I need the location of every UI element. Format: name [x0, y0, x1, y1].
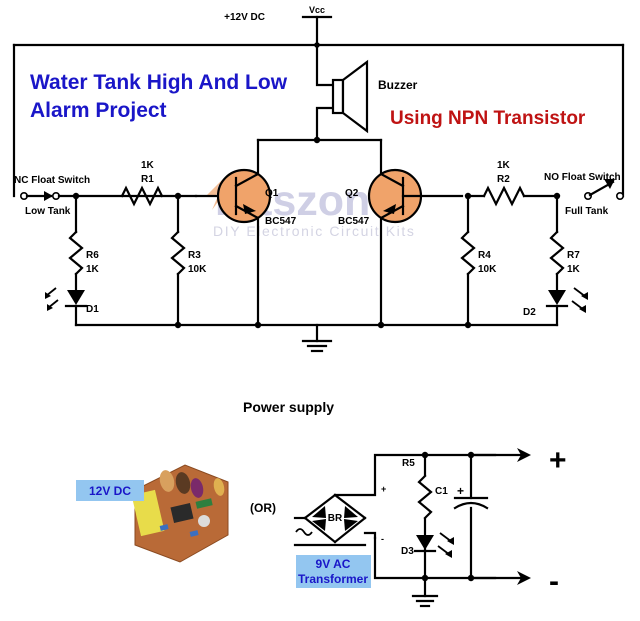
page-subtitle: Using NPN Transistor: [390, 108, 586, 129]
r2-zigzag-symbol: [484, 188, 524, 204]
vcc-supply-group: +12V DC Vcc: [224, 5, 331, 48]
junction-q1-emitter: [255, 322, 261, 328]
d2-triangle-symbol: [548, 290, 566, 305]
buzzer-label: Buzzer: [378, 78, 418, 92]
d2-emission-arrows-icon: [572, 288, 588, 313]
power-supply-heading: Power supply: [243, 399, 334, 415]
nc-switch-arrow-icon: [44, 191, 53, 201]
q2-ref-label: Q2: [345, 188, 359, 199]
junction-q2-emitter: [378, 322, 384, 328]
r1-value-label: 1K: [141, 160, 155, 171]
ps-output-terminals: + -: [471, 444, 567, 598]
page-title-line1: Water Tank High And Low: [30, 71, 288, 94]
nc-float-switch-label: NC Float Switch: [14, 175, 90, 186]
r2-value-label: 1K: [497, 160, 511, 171]
buzzer-top-wire: [317, 45, 333, 85]
nc-float-switch-group[interactable]: NC Float Switch Low Tank: [14, 175, 196, 217]
ps-positive-terminal-label: +: [549, 444, 567, 477]
transformer-badge-line1: 9V AC: [316, 557, 351, 571]
q1-ref-label: Q1: [265, 188, 279, 199]
resistor-r3-group: R3 10K: [172, 193, 207, 325]
collector-net: [258, 137, 381, 174]
capacitor-c1-group: C1 +: [425, 452, 495, 581]
full-tank-label: Full Tank: [565, 206, 609, 217]
r3-ref-label: R3: [188, 250, 201, 261]
buzzer-body: [333, 80, 343, 113]
r7-ref-label: R7: [567, 250, 580, 261]
r3-zigzag-symbol: [172, 232, 184, 274]
q1-part-label: BC547: [265, 216, 297, 227]
r3-value-label: 10K: [188, 264, 207, 275]
transistor-q2-group: Q2 BC547: [338, 170, 462, 325]
buzzer-bottom-wire: [317, 108, 333, 140]
r2-ref-label: R2: [497, 174, 510, 185]
d2-ref-label: D2: [523, 307, 536, 318]
r6-ref-label: R6: [86, 250, 99, 261]
r4-value-label: 10K: [478, 264, 497, 275]
r1-ref-label: R1: [141, 174, 154, 185]
ground-rail-group: [76, 322, 557, 351]
br-positive-sign: +: [381, 484, 386, 494]
pcb-cap-4: [198, 515, 210, 527]
d1-emission-arrows-icon: [45, 288, 58, 311]
watermark-sub-text: DIY Electronic Circuit Kits: [213, 223, 415, 239]
d1-ref-label: D1: [86, 304, 99, 315]
bridge-rectifier-group: BR + - 9V AC Transformer: [295, 455, 425, 588]
ps-negative-terminal-label: -: [549, 565, 559, 598]
d3-emission-arrows-icon: [438, 533, 454, 558]
resistor-r4-group: R4 10K: [462, 193, 497, 325]
br-ac-wave-icon: [296, 529, 312, 535]
d3-ref-label: D3: [401, 546, 414, 557]
br-negative-stub: [365, 533, 375, 538]
junction-r4-bottom: [465, 322, 471, 328]
d1-triangle-symbol: [67, 290, 85, 305]
no-switch-arrow-icon: [604, 179, 615, 189]
buzzer-horn-icon: [343, 62, 367, 131]
c1-ref-label: C1: [435, 486, 448, 497]
dc-module-photo: 12V DC: [76, 465, 228, 562]
q2-part-label: BC547: [338, 216, 370, 227]
water-tank-alarm-schematic: Kitszone DIY Electronic Circuit Kits +12…: [0, 0, 640, 621]
r4-ref-label: R4: [478, 250, 491, 261]
br-negative-sign: -: [381, 534, 384, 544]
br-ref-label: BR: [328, 513, 343, 524]
no-switch-terminal-right: [617, 193, 623, 199]
q1-body: [218, 170, 270, 222]
page-title-line2: Alarm Project: [30, 99, 167, 122]
r5-ref-label: R5: [402, 458, 415, 469]
r4-zigzag-symbol: [462, 232, 474, 274]
low-tank-label: Low Tank: [25, 206, 71, 217]
or-label: (OR): [250, 501, 276, 515]
r6-zigzag-symbol: [70, 232, 82, 274]
junction-r3-bottom: [175, 322, 181, 328]
resistor-r1-group: 1K R1: [122, 160, 162, 204]
r5-d3-branch: R5 D3: [401, 452, 454, 606]
r6-value-label: 1K: [86, 264, 100, 275]
dc-module-badge-label: 12V DC: [89, 484, 131, 498]
r7-zigzag-symbol: [551, 232, 563, 274]
junction-buzzer-collector: [314, 137, 320, 143]
transformer-badge-line2: Transformer: [298, 572, 368, 586]
d3-triangle-symbol: [416, 535, 434, 550]
vcc-voltage-label: +12V DC: [224, 12, 265, 23]
r7-value-label: 1K: [567, 264, 581, 275]
c1-polarity-sign: +: [457, 484, 464, 498]
vcc-label: Vcc: [309, 5, 325, 15]
br-negative-output-wire: [375, 538, 425, 578]
circuit-diagram-screenshot: Kitszone DIY Electronic Circuit Kits +12…: [0, 0, 640, 621]
